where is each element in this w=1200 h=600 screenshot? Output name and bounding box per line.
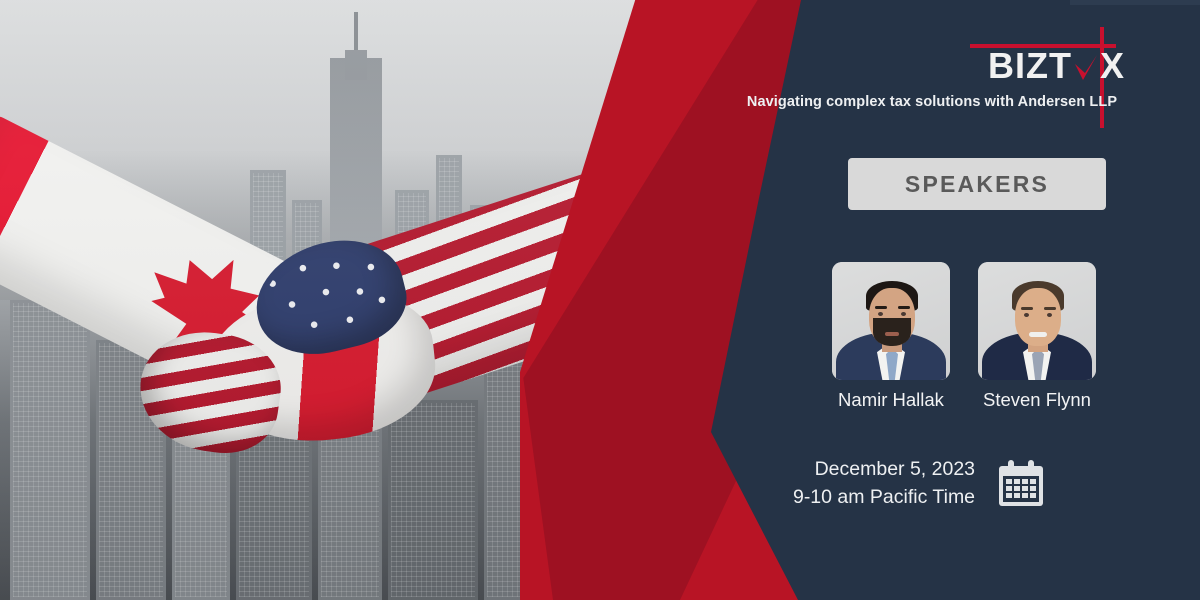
event-datetime-text: December 5, 2023 9-10 am Pacific Time: [793, 456, 975, 511]
event-time: 9-10 am Pacific Time: [793, 484, 975, 512]
red-check-mark-icon: [1072, 50, 1100, 84]
webinar-promo-banner: BIZTX Navigating complex tax solutions w…: [0, 0, 1200, 600]
speaker-photo: [978, 262, 1096, 380]
event-date: December 5, 2023: [793, 456, 975, 484]
brand-logo: BIZTX: [988, 48, 1125, 84]
speaker-card[interactable]: Namir Hallak: [832, 262, 950, 411]
speakers-label: SPEAKERS: [905, 171, 1049, 198]
speaker-photo: [832, 262, 950, 380]
logo-text-after: X: [1100, 45, 1125, 86]
speaker-name: Namir Hallak: [832, 389, 950, 411]
logo-text-before: BIZT: [988, 45, 1072, 86]
speakers-section-banner: SPEAKERS: [848, 158, 1106, 210]
calendar-icon: [995, 458, 1047, 510]
speaker-card[interactable]: Steven Flynn: [978, 262, 1096, 411]
event-datetime: December 5, 2023 9-10 am Pacific Time: [720, 456, 1120, 511]
brand-tagline: Navigating complex tax solutions with An…: [742, 94, 1122, 110]
speakers-list: Namir Hallak Steven Flynn: [832, 262, 1122, 411]
speaker-name: Steven Flynn: [978, 389, 1096, 411]
content-column: BIZTX Navigating complex tax solutions w…: [700, 0, 1200, 600]
